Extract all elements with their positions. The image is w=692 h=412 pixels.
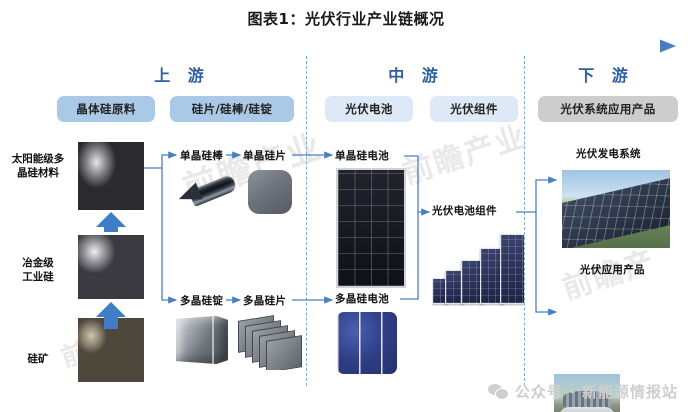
category-pill-wafer-rod-ingot[interactable]: 硅片/硅棒/硅锭 xyxy=(170,96,294,122)
photo-mono-silicon-rod xyxy=(176,172,238,214)
photo-mono-silicon-cell-module xyxy=(336,168,406,288)
node-label-pv-module: 光伏电池组件 xyxy=(432,205,497,218)
label-line-1: 冶金级 xyxy=(2,256,74,270)
photo-silicon-ore xyxy=(78,318,144,382)
photo-metallurgical-silicon xyxy=(78,235,144,299)
watermark: 前瞻产业 xyxy=(396,111,531,192)
infographic-canvas: 图表1：光伏行业产业链概况 前瞻产业 前瞻产业 前瞻产 前瞻 上 游 中 游 下… xyxy=(0,0,692,412)
node-label-pv-app-products: 光伏应用产品 xyxy=(580,264,645,277)
stage-divider-midstream-downstream xyxy=(524,56,525,386)
pill-label: 光伏组件 xyxy=(450,101,498,117)
node-label-pv-power-system: 光伏发电系统 xyxy=(576,148,641,161)
stage-label-downstream: 下 游 xyxy=(526,62,686,86)
node-label-metallurgical-silicon: 冶金级 工业硅 xyxy=(2,256,74,284)
photo-poly-silicon-cell xyxy=(337,312,397,374)
footer-text: 公众号 · 新能源情报站 xyxy=(515,381,678,402)
photo-solar-grade-polysilicon xyxy=(78,142,144,210)
node-label-solar-grade-polysilicon: 太阳能级多 晶硅材料 xyxy=(2,152,74,180)
wechat-icon xyxy=(488,384,508,400)
node-label-mono-cell: 单晶硅电池 xyxy=(335,150,389,163)
right-arrow-icon xyxy=(60,38,676,54)
pill-label: 硅片/硅棒/硅锭 xyxy=(192,101,273,117)
category-pill-crystalline-silicon-raw[interactable]: 晶体硅原料 xyxy=(57,96,155,122)
photo-pv-power-station xyxy=(562,170,670,248)
pill-label: 光伏电池 xyxy=(345,101,393,117)
category-pill-pv-system-products[interactable]: 光伏系统应用产品 xyxy=(538,96,678,122)
label-line-2: 晶硅材料 xyxy=(2,166,74,180)
stage-label-midstream: 中 游 xyxy=(308,62,524,86)
label-line-2: 工业硅 xyxy=(2,270,74,284)
node-label-poly-cell: 多晶硅电池 xyxy=(335,293,389,306)
stage-divider-upstream-midstream xyxy=(306,56,307,386)
label-line-1: 太阳能级多 xyxy=(2,152,74,166)
node-label-mono-wafer: 单晶硅片 xyxy=(243,150,286,163)
photo-poly-silicon-ingot xyxy=(172,312,236,370)
photo-mono-silicon-wafer xyxy=(248,170,292,214)
node-label-mono-rod: 单晶硅棒 xyxy=(180,150,223,163)
pill-label: 光伏系统应用产品 xyxy=(560,101,655,117)
node-label-silicon-ore: 硅矿 xyxy=(2,352,74,366)
photo-poly-silicon-wafers xyxy=(238,312,304,370)
category-pill-pv-module[interactable]: 光伏组件 xyxy=(430,96,518,122)
stage-label-upstream: 上 游 xyxy=(58,62,306,86)
node-label-poly-wafer: 多晶硅片 xyxy=(243,295,286,308)
pill-label: 晶体硅原料 xyxy=(76,101,136,117)
footer-credit: 公众号 · 新能源情报站 xyxy=(0,381,678,402)
page-title: 图表1：光伏行业产业链概况 xyxy=(0,8,692,29)
photo-pv-module-group xyxy=(432,228,524,306)
category-pill-pv-cell[interactable]: 光伏电池 xyxy=(325,96,413,122)
node-label-poly-ingot: 多晶硅锭 xyxy=(180,295,223,308)
up-arrow-metallurgical-to-polysilicon xyxy=(96,212,126,232)
